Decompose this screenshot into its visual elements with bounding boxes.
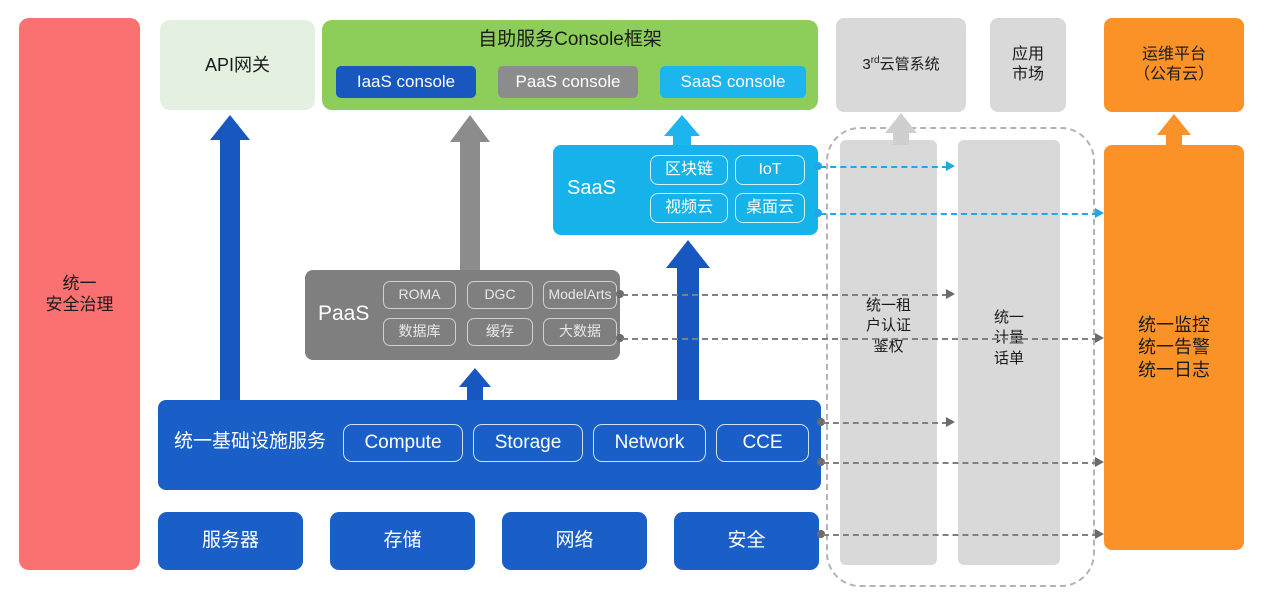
- hardware-server-box: 服务器: [158, 512, 303, 570]
- hardware-storage-box: 存储: [330, 512, 475, 570]
- flow-arrowhead-infra-auth: [946, 417, 955, 427]
- flow-arrowhead-infra-ops: [1095, 457, 1104, 467]
- security-line1: 统一: [46, 273, 114, 294]
- paas-layer-box: PaaS ROMA DGC ModelArts 数据库 缓存 大数据: [305, 270, 620, 360]
- console-framework-box: 自助服务Console框架 IaaS console PaaS console …: [322, 20, 818, 110]
- flow-arrowhead-hardware-ops: [1095, 529, 1104, 539]
- app-market-line2: 市场: [1012, 65, 1044, 85]
- arrow-opsbar-to-opsplatform: [1157, 114, 1191, 145]
- paas-chip-modelarts[interactable]: ModelArts: [543, 281, 617, 309]
- ops-platform-line1: 运维平台: [1134, 45, 1214, 65]
- paas-chip-dgc[interactable]: DGC: [467, 281, 533, 309]
- saas-label: SaaS: [567, 176, 616, 201]
- flow-line-saas-ops: [820, 213, 1098, 215]
- paas-chip-database[interactable]: 数据库: [383, 318, 456, 346]
- app-market-box: 应用 市场: [990, 18, 1066, 112]
- paas-chip-roma[interactable]: ROMA: [383, 281, 456, 309]
- hardware-security-box: 安全: [674, 512, 819, 570]
- paas-chip-cache[interactable]: 缓存: [467, 318, 533, 346]
- ops-platform-line2: （公有云）: [1134, 65, 1214, 85]
- saas-console-chip[interactable]: SaaS console: [660, 66, 806, 98]
- arrow-infra-to-apigw: [210, 115, 250, 400]
- flow-line-infra-ops: [823, 462, 1098, 464]
- flow-line-paas-auth: [622, 294, 948, 296]
- iaas-console-chip[interactable]: IaaS console: [336, 66, 476, 98]
- auth-line2: 户认证: [840, 316, 937, 336]
- third-party-label: 3rd云管系统: [862, 55, 939, 75]
- paas-label: PaaS: [318, 301, 369, 327]
- infra-chip-cce[interactable]: CCE: [716, 424, 809, 462]
- arrow-paas-to-console: [450, 115, 490, 270]
- saas-layer-box: SaaS 区块链 IoT 视频云 桌面云: [553, 145, 818, 235]
- paas-console-label: PaaS console: [516, 71, 621, 92]
- hardware-network-box: 网络: [502, 512, 647, 570]
- unified-monitoring-bar: 统一监控 统一告警 统一日志: [1104, 145, 1244, 550]
- flow-arrowhead-paas-auth: [946, 289, 955, 299]
- arrow-infra-to-paas: [459, 368, 491, 400]
- auth-line1: 统一租: [840, 296, 937, 316]
- security-line2: 安全治理: [46, 294, 114, 315]
- saas-chip-desktop-cloud[interactable]: 桌面云: [735, 193, 805, 223]
- console-framework-title: 自助服务Console框架: [322, 28, 818, 52]
- infrastructure-label: 统一基础设施服务: [174, 430, 326, 454]
- infra-chip-compute[interactable]: Compute: [343, 424, 463, 462]
- app-market-line1: 应用: [1012, 45, 1044, 65]
- third-party-cloud-mgmt-box: 3rd云管系统: [836, 18, 966, 112]
- infra-chip-storage[interactable]: Storage: [473, 424, 583, 462]
- infra-chip-network[interactable]: Network: [593, 424, 706, 462]
- flow-line-infra-auth: [823, 422, 948, 424]
- flow-arrowhead-paas-ops: [1095, 333, 1104, 343]
- ops-bar-line3: 统一日志: [1138, 359, 1210, 382]
- flow-arrowhead-saas-auth: [946, 161, 955, 171]
- paas-console-chip[interactable]: PaaS console: [498, 66, 638, 98]
- paas-chip-bigdata[interactable]: 大数据: [543, 318, 617, 346]
- ops-bar-line2: 统一告警: [1138, 336, 1210, 359]
- meter-line3: 话单: [958, 349, 1060, 369]
- unified-tenant-auth-column: 统一租 户认证 鉴权: [840, 140, 937, 565]
- saas-chip-video-cloud[interactable]: 视频云: [650, 193, 728, 223]
- arrow-infra-to-saas: [666, 240, 710, 400]
- meter-line1: 统一: [958, 308, 1060, 328]
- infrastructure-layer-box: 统一基础设施服务 Compute Storage Network CCE: [158, 400, 821, 490]
- saas-console-label: SaaS console: [681, 71, 786, 92]
- iaas-console-label: IaaS console: [357, 71, 455, 92]
- flow-arrowhead-saas-ops: [1095, 208, 1104, 218]
- ops-bar-line1: 统一监控: [1138, 314, 1210, 337]
- arrow-saas-to-console: [664, 115, 700, 145]
- saas-chip-iot[interactable]: IoT: [735, 155, 805, 185]
- flow-line-hardware-ops: [823, 534, 1098, 536]
- flow-line-saas-auth: [820, 166, 948, 168]
- unified-metering-column: 统一 计量 话单: [958, 140, 1060, 565]
- saas-chip-blockchain[interactable]: 区块链: [650, 155, 728, 185]
- flow-line-paas-ops: [622, 338, 1098, 340]
- api-gateway-label: API网关: [205, 54, 270, 77]
- architecture-diagram: 统一 安全治理 API网关 自助服务Console框架 IaaS console…: [0, 0, 1265, 605]
- api-gateway-box: API网关: [160, 20, 315, 110]
- ops-platform-public-cloud-box: 运维平台 （公有云）: [1104, 18, 1244, 112]
- security-governance-column: 统一 安全治理: [19, 18, 140, 570]
